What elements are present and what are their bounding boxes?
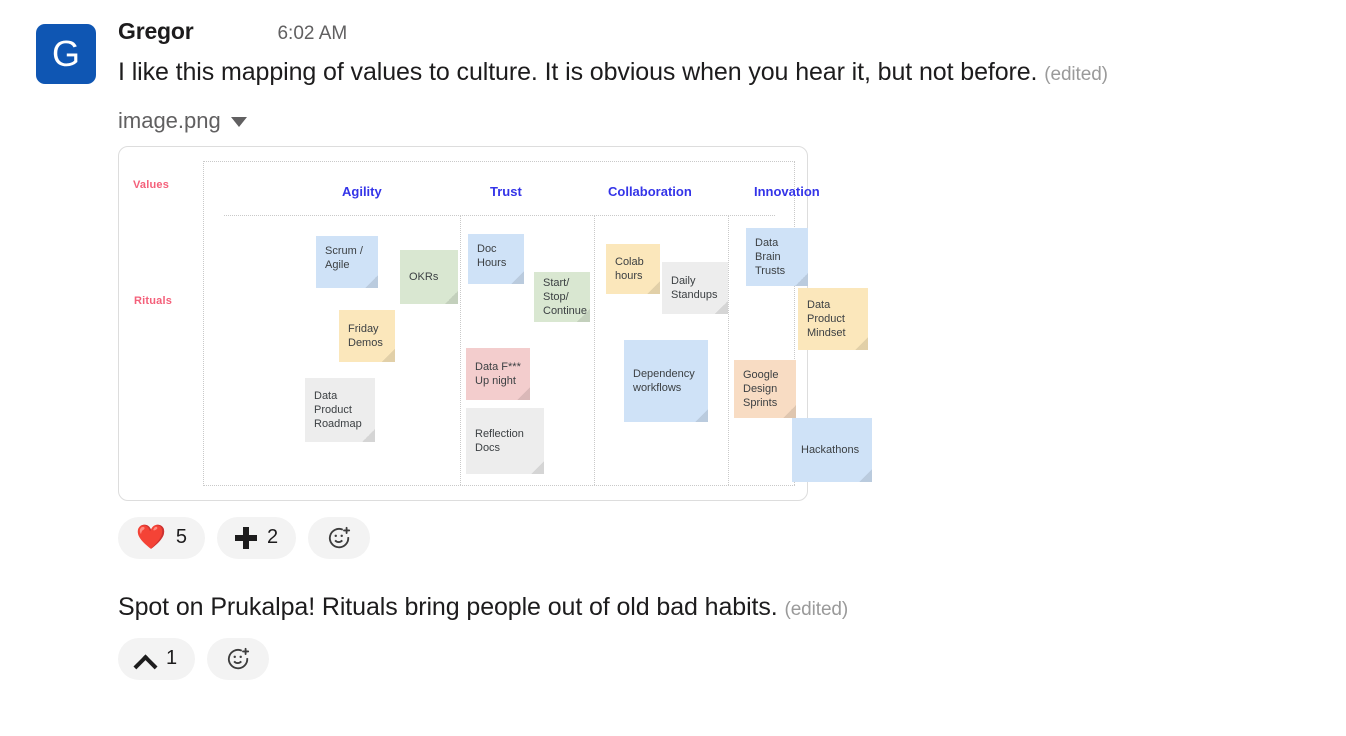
sticky-note: Doc Hours [468, 234, 524, 284]
sticky-note: Start/ Stop/ Continue [534, 272, 590, 322]
column-separator-2 [728, 216, 729, 485]
reaction-add-reaction[interactable] [308, 517, 370, 559]
column-title-agility: Agility [342, 184, 382, 199]
reply-edited-label: (edited) [784, 599, 848, 620]
sticky-note-label: Scrum / Agile [325, 244, 363, 272]
message-header: Gregor 6:02 AM [118, 18, 1346, 50]
sticky-note: Daily Standups [662, 262, 728, 314]
sticky-note: Reflection Docs [466, 408, 544, 474]
reaction-count: 5 [176, 526, 187, 549]
sticky-note: Data F*** Up night [466, 348, 530, 400]
column-title-innovation: Innovation [754, 184, 820, 199]
message-block: G Gregor 6:02 AM I like this mapping of … [0, 0, 1346, 559]
file-name[interactable]: image.png [118, 108, 221, 134]
image-attachment[interactable]: Values Rituals AgilityTrustCollaboration… [118, 146, 808, 501]
plus-icon [235, 527, 257, 549]
message-timestamp[interactable]: 6:02 AM [277, 23, 347, 45]
sticky-note: Friday Demos [339, 310, 395, 362]
sticky-note-label: Start/ Stop/ Continue [543, 276, 587, 318]
reply-message-block: Spot on Prukalpa! Rituals bring people o… [118, 593, 1346, 680]
sticky-note: Hackathons [792, 418, 872, 482]
chevron-up-icon [136, 649, 156, 669]
diagram-grid: AgilityTrustCollaborationInnovation Scru… [203, 161, 795, 486]
sticky-note: Data Product Mindset [798, 288, 868, 350]
sticky-note-label: Hackathons [801, 443, 859, 457]
add-reaction-icon [326, 525, 352, 551]
sticky-note: Scrum / Agile [316, 236, 378, 288]
row-label-rituals: Rituals [134, 295, 172, 307]
avatar-initial: G [52, 36, 80, 72]
file-row[interactable]: image.png [118, 108, 1346, 134]
reaction-count: 1 [166, 647, 177, 670]
reply-text: Spot on Prukalpa! Rituals bring people o… [118, 593, 1346, 622]
sticky-note-label: Dependency workflows [633, 367, 695, 395]
sticky-note-label: Doc Hours [477, 242, 506, 270]
values-rituals-diagram: Values Rituals AgilityTrustCollaboration… [119, 147, 807, 500]
sticky-note: Colab hours [606, 244, 660, 294]
message-body: Gregor 6:02 AM I like this mapping of va… [118, 18, 1346, 559]
sticky-note-label: Data Product Roadmap [314, 389, 362, 431]
author-name[interactable]: Gregor [118, 18, 193, 45]
sticky-note-label: Data Product Mindset [807, 298, 846, 340]
sticky-note-label: Friday Demos [348, 322, 383, 350]
sticky-note-label: OKRs [409, 270, 438, 284]
message-text: I like this mapping of values to culture… [118, 56, 1346, 90]
sticky-note: Google Design Sprints [734, 360, 796, 418]
sticky-note: Data Product Roadmap [305, 378, 375, 442]
sticky-note-label: Google Design Sprints [743, 368, 778, 410]
edited-label: (edited) [1044, 64, 1108, 85]
sticky-note: Dependency workflows [624, 340, 708, 422]
reaction-plus[interactable]: 2 [217, 517, 296, 559]
heart-icon: ❤️ [136, 526, 166, 550]
column-separator-1 [594, 216, 595, 485]
sticky-note-label: Colab hours [615, 255, 644, 283]
chevron-down-icon[interactable] [231, 117, 247, 127]
reply-text-content: Spot on Prukalpa! Rituals bring people o… [118, 593, 778, 621]
reaction-chevron-up[interactable]: 1 [118, 638, 195, 680]
reaction-count: 2 [267, 526, 278, 549]
sticky-note: OKRs [400, 250, 458, 304]
column-title-trust: Trust [490, 184, 522, 199]
sticky-note-label: Data Brain Trusts [755, 236, 785, 278]
column-separator-0 [460, 216, 461, 485]
sticky-note-label: Daily Standups [671, 274, 717, 302]
message-text-content: I like this mapping of values to culture… [118, 58, 1037, 86]
sticky-note-label: Data F*** Up night [475, 360, 521, 388]
reactions-bar: ❤️52 [118, 517, 1346, 559]
add-reaction-icon [225, 646, 251, 672]
sticky-note: Data Brain Trusts [746, 228, 808, 286]
reaction-heart[interactable]: ❤️5 [118, 517, 205, 559]
row-label-values: Values [133, 179, 169, 191]
reply-reactions-bar: 1 [118, 638, 1346, 680]
reaction-add-reaction[interactable] [207, 638, 269, 680]
sticky-note-label: Reflection Docs [475, 427, 524, 455]
column-title-collaboration: Collaboration [608, 184, 692, 199]
avatar[interactable]: G [36, 24, 96, 84]
